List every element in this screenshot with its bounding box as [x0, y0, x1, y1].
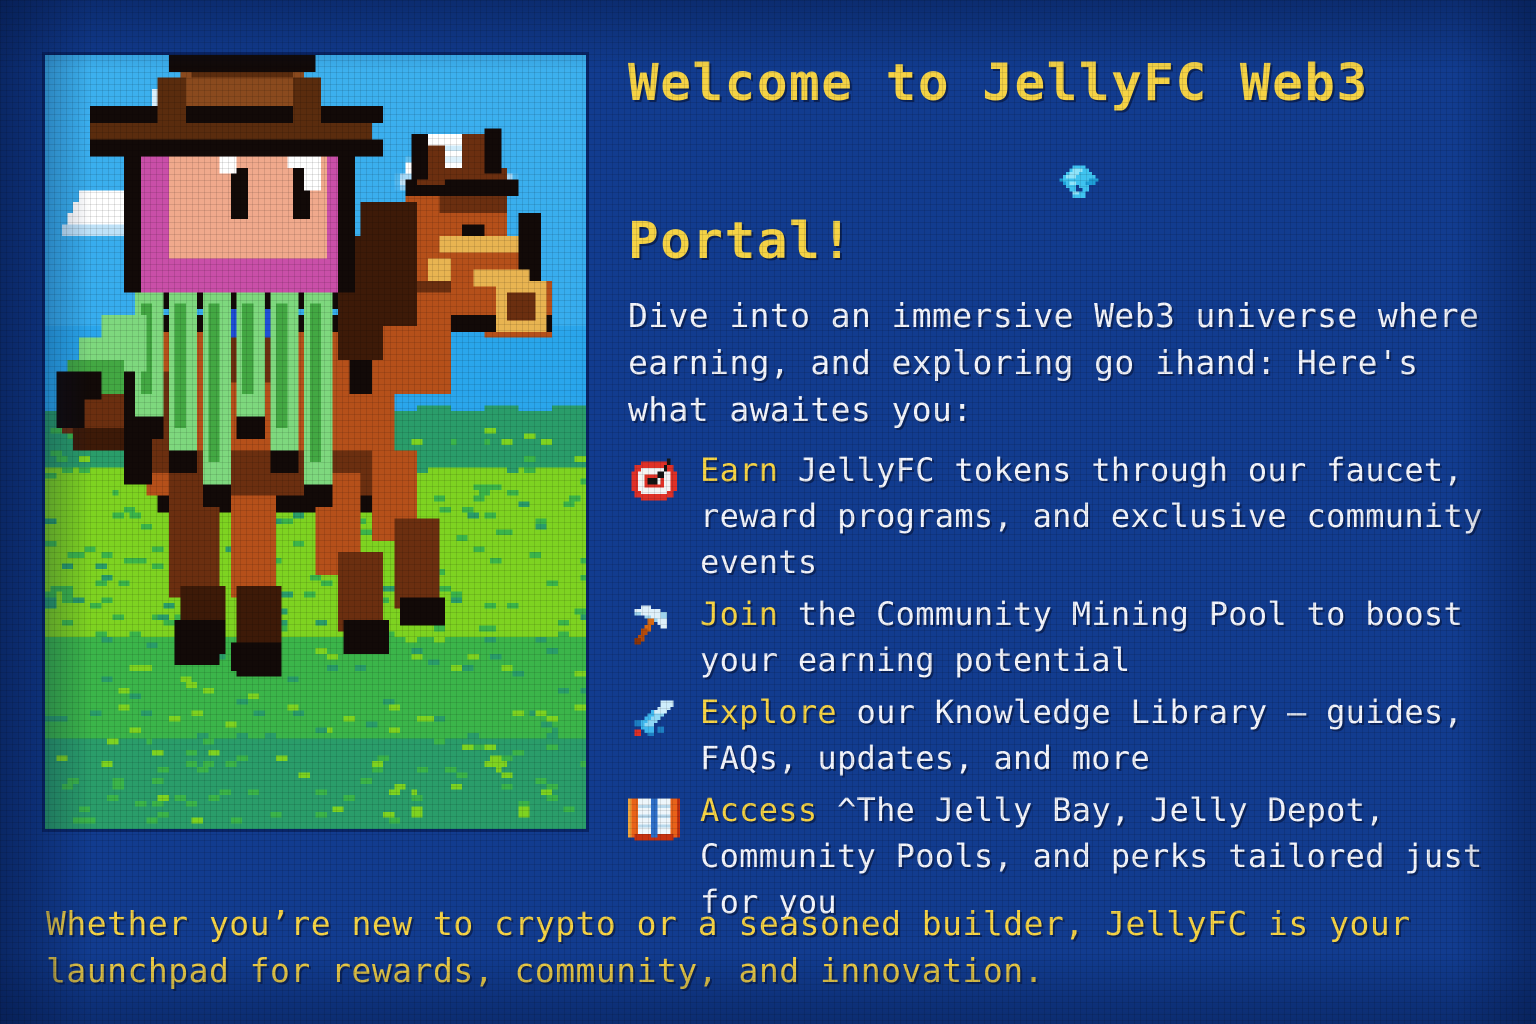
- feature-item-text: Join the Community Mining Pool to boost …: [700, 591, 1488, 683]
- jellyfish-icon: [859, 110, 1104, 276]
- feature-item-text: Earn JellyFC tokens through our faucet, …: [700, 447, 1488, 585]
- feature-rest: the Community Mining Pool to boost your …: [700, 595, 1463, 679]
- feature-item-earn: Earn JellyFC tokens through our faucet, …: [628, 447, 1488, 585]
- feature-keyword: Access: [700, 791, 817, 829]
- feature-keyword: Explore: [700, 693, 837, 731]
- feature-item-join: Join the Community Mining Pool to boost …: [628, 591, 1488, 683]
- feature-rest: JellyFC tokens through our faucet, rewar…: [700, 451, 1483, 581]
- pickaxe-icon: [628, 599, 684, 655]
- footer-tagline: Whether you’re new to crypto or a season…: [46, 900, 1466, 994]
- dart-target-icon: [628, 455, 684, 511]
- hero-pixel-artwork: [45, 55, 586, 829]
- feature-keyword: Join: [700, 595, 778, 633]
- pixel-art-canvas: [45, 55, 586, 829]
- open-book-icon: [628, 795, 684, 851]
- intro-paragraph: Dive into an immersive Web3 universe whe…: [628, 292, 1488, 433]
- feature-item-explore: Explore our Knowledge Library — guides, …: [628, 689, 1488, 781]
- page-title: Welcome to JellyFC Web3 Portal!: [628, 58, 1488, 276]
- content-column: Welcome to JellyFC Web3 Portal!: [628, 58, 1488, 931]
- feature-item-text: Explore our Knowledge Library — guides, …: [700, 689, 1488, 781]
- feature-keyword: Earn: [700, 451, 778, 489]
- rocket-icon: [628, 697, 684, 753]
- jellyfc-web3-portal-banner: Welcome to JellyFC Web3 Portal!: [0, 0, 1536, 1024]
- feature-list: Earn JellyFC tokens through our faucet, …: [628, 447, 1488, 925]
